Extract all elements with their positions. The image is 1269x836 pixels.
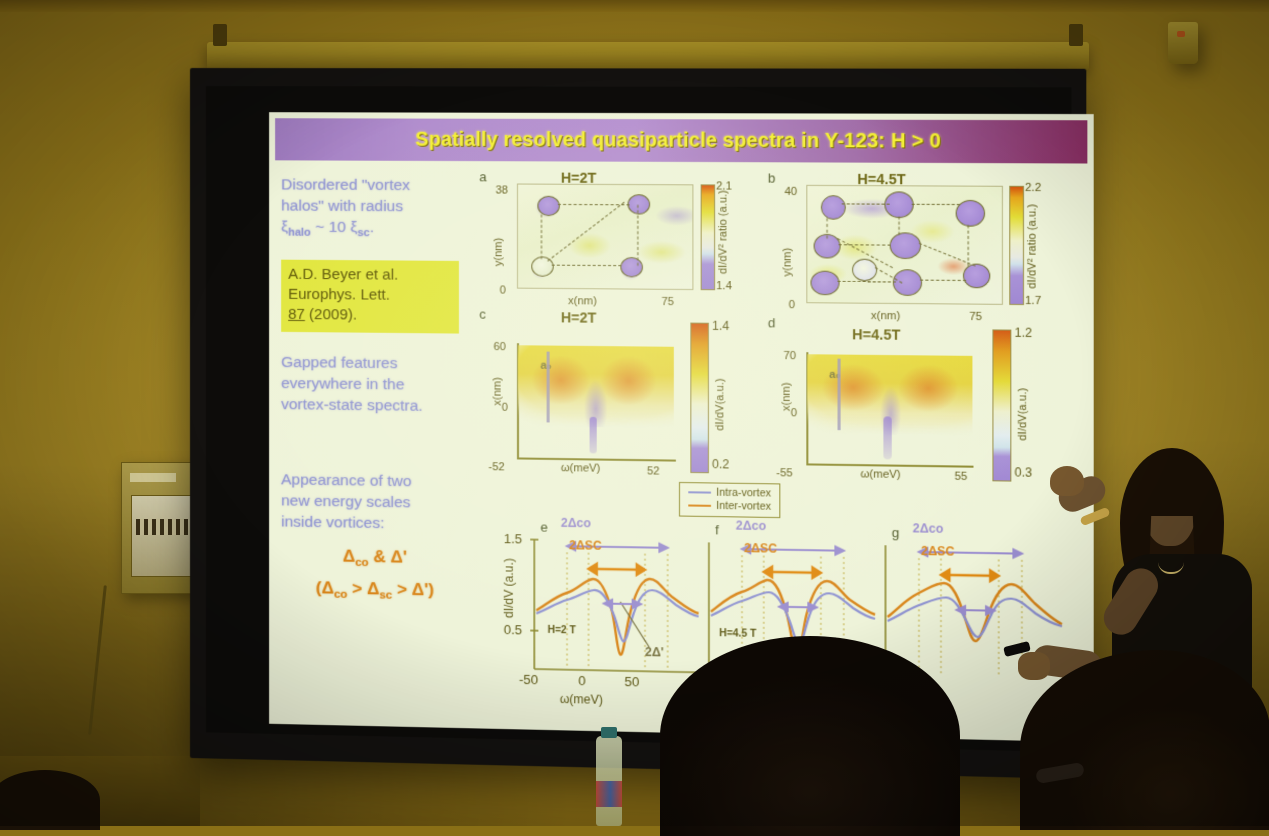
vortex-lattice-line xyxy=(827,218,828,238)
citation-journal: Europhys. Lett. xyxy=(288,285,452,306)
page-title: Spatially resolved quasiparticle spectra… xyxy=(415,128,940,153)
panel-c-colorbar xyxy=(690,323,709,474)
vortex-lattice-line xyxy=(968,225,969,266)
bullet-halos: Disordered "vortex halos" with radius ξh… xyxy=(281,174,469,245)
panel-c-xlabel: ω(meV) xyxy=(561,462,600,475)
panel-d-letter: d xyxy=(768,315,776,330)
citation-box: A.D. Beyer et al. Europhys. Lett. 87 (20… xyxy=(281,260,459,334)
vortex-marker xyxy=(963,264,990,289)
bullet-halos-line2: halos" with radius xyxy=(281,195,469,217)
citation-authors: A.D. Beyer et al. xyxy=(288,265,452,286)
vortex-marker xyxy=(628,194,651,214)
audience-head-left xyxy=(0,770,100,830)
panel-c-xtick-min: -52 xyxy=(488,461,504,473)
panel-e-field-label: H=2 T xyxy=(548,625,576,637)
vortex-lattice-line xyxy=(541,214,542,259)
panel-c-cbar-min: 0.2 xyxy=(712,457,729,471)
panel-e-annot-sc: 2ΔSC xyxy=(569,538,602,553)
panel-c-gap-feature xyxy=(590,417,597,454)
equation-line-2: (Δco > Δsc > Δ') xyxy=(281,575,469,611)
bottle-cap xyxy=(601,727,617,738)
vortex-lattice-line xyxy=(637,205,638,266)
panel-a-colorbar xyxy=(701,184,715,290)
projector-screen-roller xyxy=(207,42,1089,70)
vortex-marker xyxy=(537,196,559,216)
panel-a-xlabel: x(nm) xyxy=(568,295,597,307)
vortex-lattice-line xyxy=(899,216,900,234)
panel-b-cbar-min: 1.7 xyxy=(1025,295,1041,307)
legend-key-inter-icon xyxy=(688,505,711,507)
panel-b: b H=4.5T 40 0 y(nm) x(nm) 75 xyxy=(269,112,1094,114)
projection-screen-frame: Spatially resolved quasiparticle spectra… xyxy=(190,68,1086,779)
panel-a-ytick-min: 0 xyxy=(500,284,506,296)
vortex-marker xyxy=(893,269,922,296)
panel-c-a0-bar xyxy=(547,352,550,423)
panel-e-annot-delta-prime: 2Δ' xyxy=(645,645,664,660)
panel-b-ytick-min: 0 xyxy=(789,299,795,311)
presenter-lower-hand xyxy=(1018,652,1050,680)
panel-b-xtick-max: 75 xyxy=(969,311,982,323)
panel-a-cbar-min: 1.4 xyxy=(716,280,732,292)
roller-bracket-left xyxy=(213,24,227,46)
panel-f-field-label: H=4.5 T xyxy=(719,628,756,640)
panel-a-cbar-label: dI/dV² ratio (a.u.) xyxy=(717,190,729,274)
panel-d-cbar-label: dI/dV(a.u.) xyxy=(1017,388,1030,441)
panel-a-letter: a xyxy=(479,169,486,184)
bullet-energy-scales: Appearance of two new energy scales insi… xyxy=(281,469,469,535)
panel-e-xlabel: ω(meV) xyxy=(560,692,603,707)
legend-item-intra: Intra-vortex xyxy=(688,486,771,500)
presenter-wristwatch xyxy=(1079,507,1110,527)
panel-e-ytick-max: 1.5 xyxy=(504,531,522,546)
panel-a-xtick-max: 75 xyxy=(661,296,674,308)
panel-d-a0-bar xyxy=(838,359,841,431)
sconce-led-icon xyxy=(1177,31,1185,37)
panel-c-waterfall xyxy=(518,345,674,428)
panel-breakers-icon xyxy=(136,519,188,535)
panel-b-ytick-max: 40 xyxy=(784,186,797,198)
panel-d-xlabel: ω(meV) xyxy=(860,468,900,481)
panel-c-cbar-label: dI/dV(a.u.) xyxy=(714,378,726,430)
panel-a-ylabel: y(nm) xyxy=(493,238,505,266)
wall-cable xyxy=(88,585,107,734)
panel-c-xtick-max: 52 xyxy=(647,465,660,477)
panel-e-xtick-3: 50 xyxy=(624,674,639,690)
panel-d-cbar-min: 0.3 xyxy=(1015,465,1033,480)
panel-b-cbar-label: dI/dV² ratio (a.u.) xyxy=(1026,204,1039,289)
panel-c-ylabel: x(nm) xyxy=(491,377,503,406)
panel-b-xlabel: x(nm) xyxy=(871,310,900,323)
panel-d-ylabel: x(nm) xyxy=(780,382,792,411)
ceiling-edge xyxy=(0,0,1269,12)
projection-screen-surface: Spatially resolved quasiparticle spectra… xyxy=(206,86,1072,752)
presentation-slide: Spatially resolved quasiparticle spectra… xyxy=(269,112,1094,742)
panel-d-xtick-min: -55 xyxy=(776,467,793,479)
roller-bracket-right xyxy=(1069,24,1083,46)
panel-c-xaxis xyxy=(517,457,676,461)
panel-b-colorbar xyxy=(1009,186,1024,305)
panel-d: d H=4.5T 70 0 x(nm) -55 ω(meV) 55 a₀ 1.2 xyxy=(269,112,1094,114)
vortex-marker xyxy=(852,259,877,282)
panel-f-annot-sc: 2ΔSC xyxy=(744,541,777,556)
panel-c: c H=2T 60 0 x(nm) -52 ω(meV) 52 a₀ 1.4 xyxy=(269,112,1094,114)
vortex-marker xyxy=(620,257,643,277)
panel-d-gap-feature xyxy=(883,416,891,459)
vortex-marker xyxy=(956,200,985,227)
bullet-gapped: Gapped features everywhere in the vortex… xyxy=(281,352,469,417)
bullet-halos-line3: ξhalo ~ 10 ξsc. xyxy=(281,217,469,245)
vortex-marker xyxy=(810,271,839,296)
wall-sconce-icon xyxy=(1168,22,1198,64)
panel-d-xtick-max: 55 xyxy=(955,471,968,483)
bottle-label xyxy=(596,781,622,807)
equation-line-1: Δco & Δ' xyxy=(281,543,469,579)
vortex-marker xyxy=(884,191,913,218)
panel-a: a H=2T 38 0 y(nm) x(nm) 75 xyxy=(269,112,1094,114)
panel-f-annot-co: 2Δco xyxy=(736,518,766,533)
panel-b-letter: b xyxy=(768,170,776,185)
citation-volume: 87 xyxy=(288,306,305,323)
slide-left-column: Disordered "vortex halos" with radius ξh… xyxy=(281,174,469,611)
panel-g-letter: g xyxy=(892,525,900,540)
panel-e-letter: e xyxy=(540,519,547,534)
panel-d-colorbar xyxy=(992,329,1011,481)
panel-d-ytick-max: 70 xyxy=(783,350,796,362)
panel-b-ylabel: y(nm) xyxy=(781,248,793,277)
panel-a-ytick-max: 38 xyxy=(496,184,508,196)
panel-c-title: H=2T xyxy=(561,309,596,326)
panel-b-cbar-max: 2.2 xyxy=(1025,182,1041,194)
citation-year: (2009). xyxy=(309,306,357,324)
panel-c-cbar-max: 1.4 xyxy=(712,319,729,333)
panel-e-xtick-2: 0 xyxy=(578,673,585,688)
legend-key-intra-icon xyxy=(688,491,711,493)
panel-d-xaxis xyxy=(806,463,973,467)
citation-volume-year: 87 (2009). xyxy=(288,305,452,327)
panel-e-ylabel: dI/dV (a.u.) xyxy=(502,558,516,618)
panel-efg-group: e 1.5 0.5 dI/dV (a.u.) H=2 T -50 0 50 ω(… xyxy=(269,112,1094,114)
panel-e-annot-co: 2Δco xyxy=(561,516,591,531)
vortex-marker xyxy=(890,232,921,259)
panel-f-letter: f xyxy=(715,522,719,537)
legend-item-inter: Inter-vortex xyxy=(688,499,771,513)
vortex-marker xyxy=(821,195,846,220)
water-bottle xyxy=(596,736,622,826)
panel-e-xtick-1: -50 xyxy=(519,672,538,688)
panel-d-cbar-max: 1.2 xyxy=(1015,326,1033,341)
panel-c-ytick-max: 60 xyxy=(494,341,506,353)
presenter-hand xyxy=(1050,466,1084,496)
panel-label xyxy=(130,473,176,482)
panel-c-letter: c xyxy=(479,307,486,322)
room-scene: Spatially resolved quasiparticle spectra… xyxy=(0,0,1269,826)
spectra-legend: Intra-vortex Inter-vortex xyxy=(679,482,780,518)
panel-e-ytick-min: 0.5 xyxy=(504,622,522,638)
panel-d-title: H=4.5T xyxy=(852,326,900,343)
bullet-halos-line1: Disordered "vortex xyxy=(281,174,469,196)
slide-title-bar: Spatially resolved quasiparticle spectra… xyxy=(275,118,1087,163)
audience-head-center xyxy=(660,636,960,836)
panel-g-annot-sc: 2ΔSC xyxy=(921,544,955,559)
panel-g-annot-co: 2Δco xyxy=(913,521,944,536)
